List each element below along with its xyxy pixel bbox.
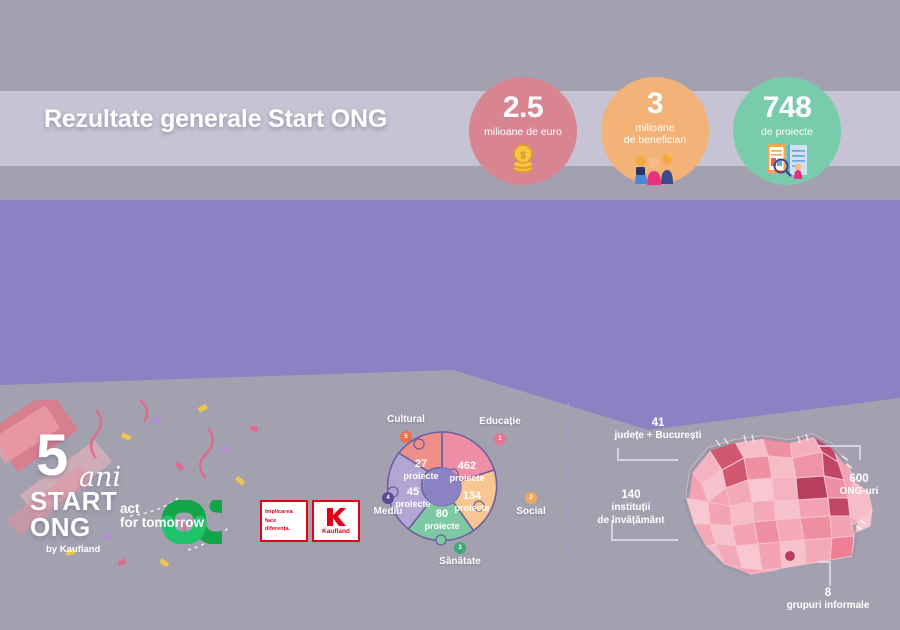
legend-rank-cultural: 5 (400, 431, 412, 443)
documents-icon (761, 141, 813, 184)
kaufland-logo: Kaufland (312, 500, 360, 542)
donut-value-sanatate: 80 (419, 508, 465, 521)
stat-circle-projects: 748 de proiecte (733, 77, 841, 185)
stat-caption-line2: de beneficiari (624, 134, 686, 146)
map-stat-schools-number: 140 (572, 488, 690, 502)
donut-value-educatie: 462 (443, 460, 491, 473)
legend-label-mediu: Mediu (362, 506, 414, 517)
legend-rank-mediu: 4 (382, 492, 394, 504)
legend-mediu: 4 Mediu (362, 486, 414, 517)
map-stat-counties: 41 județe + București (578, 416, 738, 443)
map-stat-counties-number: 41 (578, 416, 738, 430)
brand-byline: by Kaufland (46, 544, 100, 555)
map-stat-schools-label2: de învățământ (597, 515, 664, 526)
donut-label-sanatate: 80 proiecte (419, 508, 465, 531)
implicarea-line2: face (265, 517, 303, 525)
infographic-root: Rezultate generale Start ONG 2.5 milioan… (0, 0, 900, 506)
legend-educatie: Educație 1 (466, 416, 534, 445)
legend-cultural: Cultural 5 (375, 414, 437, 443)
legend-social: 2 Social (502, 486, 560, 517)
bucharest-marker (785, 551, 795, 561)
svg-text:$: $ (520, 151, 526, 162)
stat-caption: de proiecte (761, 126, 813, 138)
legend-rank-social: 2 (525, 492, 537, 504)
people-icon (630, 149, 680, 190)
romania-map (672, 418, 882, 598)
coins-icon: $ (506, 141, 540, 180)
aft-line1: act (120, 502, 204, 516)
page-title: Rezultate generale Start ONG (44, 105, 464, 134)
donut-unit-sanatate: proiecte (424, 521, 459, 531)
legend-label-sanatate: Sănătate (424, 556, 496, 567)
stat-number: 3 (647, 89, 663, 119)
map-stat-ngos: 600 ONG-uri (826, 472, 892, 499)
map-stat-schools-label1: instituții (612, 502, 651, 513)
map-stat-informal-number: 8 (762, 586, 894, 600)
map-stat-ngos-number: 600 (826, 472, 892, 486)
act-for-tomorrow-text: act for tomorrow (120, 502, 204, 529)
implicarea-face-diferenta-logo: Implicarea face diferența. (260, 500, 308, 542)
donut-label-educatie: 462 proiecte (443, 460, 491, 483)
legend-label-cultural: Cultural (375, 414, 437, 425)
donut-label-cultural: 27 proiecte (399, 458, 443, 481)
donut-unit-educatie: proiecte (449, 473, 484, 483)
brand-name: START ONG (30, 488, 117, 540)
map-stat-schools: 140 instituții de învățământ (572, 488, 690, 527)
brand-name-line2: ONG (30, 514, 117, 540)
implicarea-line3: diferența. (265, 525, 303, 533)
legend-rank-educatie: 1 (494, 433, 506, 445)
donut-value-cultural: 27 (399, 458, 443, 471)
stat-caption: milioane de beneficiari (624, 122, 686, 146)
legend-label-educatie: Educație (466, 416, 534, 427)
map-stat-ngos-label: ONG-uri (840, 486, 879, 497)
aft-line2: for tomorrow (120, 516, 204, 530)
brand-years: 5 (36, 430, 68, 482)
map-stat-informal-label: grupuri informale (787, 600, 870, 611)
kaufland-k-icon (325, 507, 347, 527)
implicarea-logo-text: Implicarea face diferența. (262, 508, 306, 533)
stat-number: 2.5 (503, 93, 543, 123)
stat-caption: milioane de euro (484, 126, 562, 138)
stat-caption-line1: milioane (624, 122, 686, 134)
section-divider (567, 404, 569, 550)
panel-content: 5 ani START ONG by Kaufland act for tomo… (0, 200, 900, 430)
legend-label-social: Social (502, 506, 560, 517)
map-stat-counties-label: județe + București (615, 430, 702, 441)
kaufland-logo-label: Kaufland (322, 528, 350, 535)
stat-number: 748 (763, 93, 812, 123)
legend-sanatate: 3 Sănătate (424, 536, 496, 567)
map-stat-informal-groups: 8 grupuri informale (762, 586, 894, 613)
donut-unit-cultural: proiecte (403, 471, 438, 481)
stat-circle-beneficiaries: 3 milioane de beneficiari (601, 77, 709, 185)
stat-circle-money: 2.5 milioane de euro $ (469, 77, 577, 185)
brand-name-line1: START (30, 488, 117, 514)
donut-value-social: 134 (451, 490, 493, 503)
implicarea-line1: Implicarea (265, 508, 303, 516)
legend-rank-sanatate: 3 (454, 542, 466, 554)
